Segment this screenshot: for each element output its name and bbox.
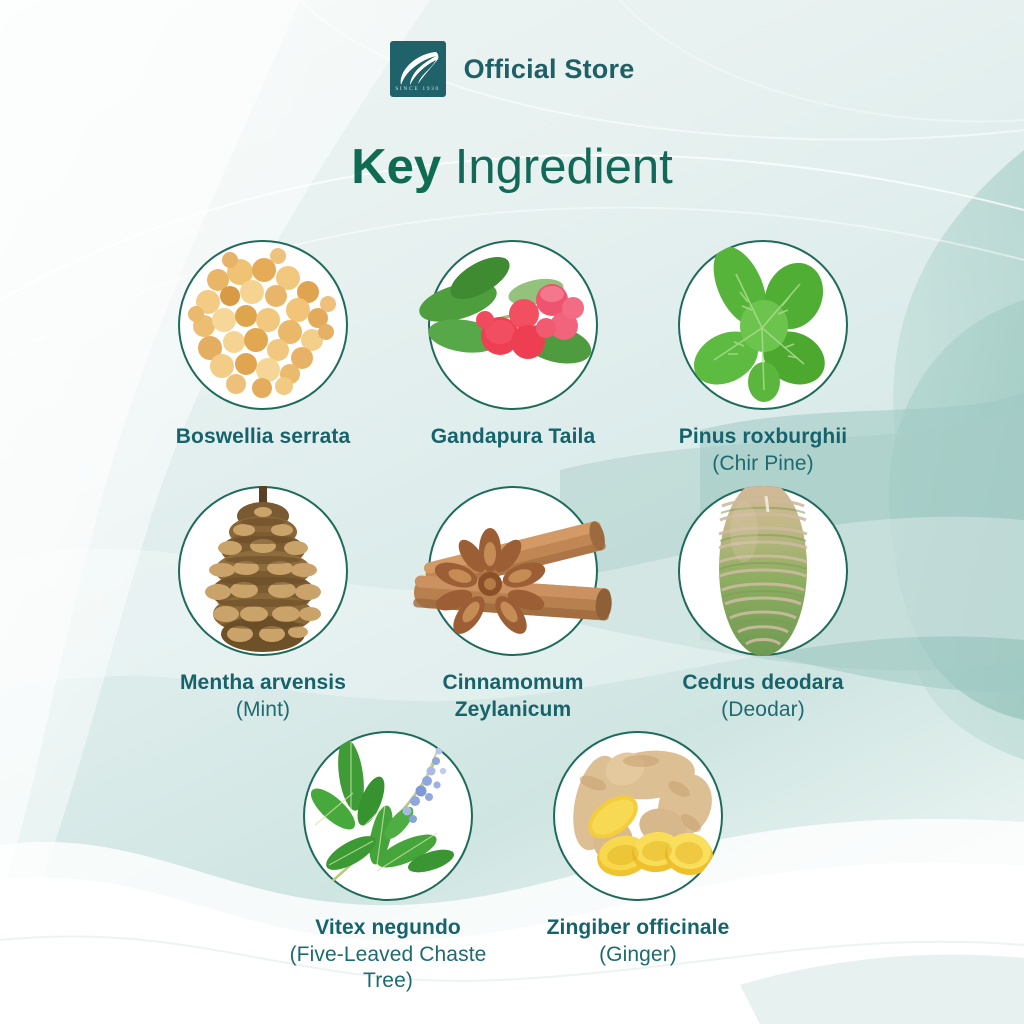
official-store-label: Official Store <box>464 54 635 85</box>
common-name: (Deodar) <box>638 697 888 724</box>
common-name: (Ginger) <box>513 942 763 969</box>
ginger-root-slices-image <box>553 731 723 901</box>
scientific-name: Boswellia serrata <box>138 424 388 451</box>
ingredient-card-vitex-negundo[interactable]: Vitex negundo (Five-Leaved Chaste Tree) <box>263 731 513 995</box>
common-name: (Mint) <box>138 697 388 724</box>
ingredient-card-zingiber-officinale[interactable]: Zingiber officinale (Ginger) <box>513 731 763 968</box>
ingredient-label: Cedrus deodara (Deodar) <box>638 670 888 723</box>
ingredient-label: Vitex negundo (Five-Leaved Chaste Tree) <box>263 915 513 995</box>
ingredient-card-gandapura-taila[interactable]: Gandapura Taila <box>388 240 638 451</box>
ingredient-label: Boswellia serrata <box>138 424 388 451</box>
brand-logo[interactable]: SINCE 1930 <box>390 41 446 97</box>
vitex-negundo-plant-image <box>303 731 473 901</box>
logo-since-text: SINCE 1930 <box>390 86 446 92</box>
deodar-cone-image <box>678 486 848 656</box>
page-title-light: Ingredient <box>441 140 673 194</box>
scientific-name: Cinnamomum Zeylanicum <box>388 670 638 723</box>
ingredient-label: Mentha arvensis (Mint) <box>138 670 388 723</box>
ingredient-label: Cinnamomum Zeylanicum <box>388 670 638 723</box>
page-title: Key Ingredient <box>0 142 1024 194</box>
key-ingredient-infographic: SINCE 1930 Official Store Key Ingredient <box>0 0 1024 1024</box>
ingredient-card-cinnamomum-zeylanicum[interactable]: Cinnamomum Zeylanicum <box>388 486 638 723</box>
brand-header: SINCE 1930 Official Store <box>0 41 1024 97</box>
ingredient-card-mentha-arvensis[interactable]: Mentha arvensis (Mint) <box>138 486 388 723</box>
page-title-strong: Key <box>351 140 441 194</box>
ingredient-label: Pinus roxburghii (Chir Pine) <box>638 424 888 477</box>
ingredient-label: Zingiber officinale (Ginger) <box>513 915 763 968</box>
scientific-name: Gandapura Taila <box>388 424 638 451</box>
scientific-name: Mentha arvensis <box>138 670 388 697</box>
frankincense-resin-granules-image <box>178 240 348 410</box>
cinnamon-sticks-star-anise-image <box>428 486 598 656</box>
common-name: (Chir Pine) <box>638 451 888 478</box>
wintergreen-berries-image <box>428 240 598 410</box>
ingredient-card-cedrus-deodara[interactable]: Cedrus deodara (Deodar) <box>638 486 888 723</box>
scientific-name: Cedrus deodara <box>638 670 888 697</box>
mint-leaves-image <box>678 240 848 410</box>
common-name: (Five-Leaved Chaste Tree) <box>263 942 513 995</box>
scientific-name: Pinus roxburghii <box>638 424 888 451</box>
scientific-name: Zingiber officinale <box>513 915 763 942</box>
ingredient-card-boswellia-serrata[interactable]: Boswellia serrata <box>138 240 388 451</box>
scientific-name: Vitex negundo <box>263 915 513 942</box>
pine-cone-image <box>178 486 348 656</box>
ingredient-label: Gandapura Taila <box>388 424 638 451</box>
ingredient-card-pinus-roxburghii[interactable]: Pinus roxburghii (Chir Pine) <box>638 240 888 477</box>
